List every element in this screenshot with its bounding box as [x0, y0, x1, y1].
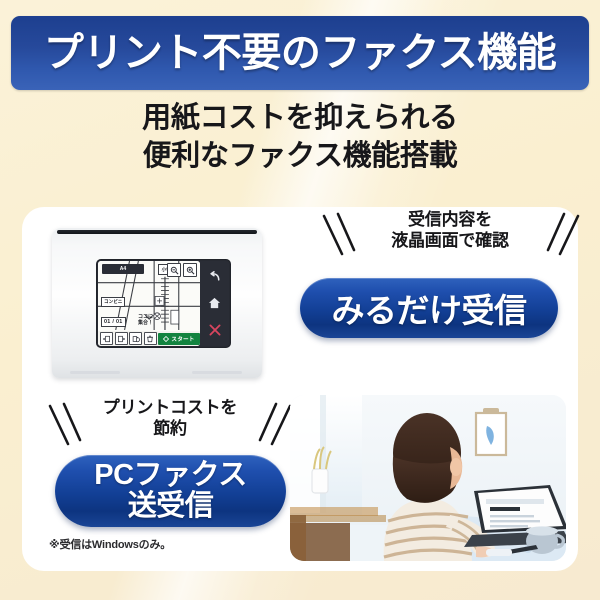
lcd-landmark-store: コンビニ [101, 297, 125, 307]
printer-device: A4 小学校 コンビニ 01 / 01 ココに 集合！ [52, 228, 262, 378]
zoom-in-icon[interactable] [183, 263, 197, 277]
pill-miru-dake-jushin[interactable]: みるだけ受信 [300, 278, 558, 338]
close-x-icon[interactable] [209, 324, 221, 336]
advertisement-banner: プリント不要のファクス機能 用紙コストを抑えられる 便利なファクス機能搭載 [0, 0, 600, 600]
back-arrow-icon[interactable] [208, 271, 221, 282]
callout-top-line-2: 液晶画面で確認 [330, 231, 570, 252]
start-button-label: スタート [171, 335, 194, 343]
printer-top-bar [57, 230, 257, 234]
lcd-zoom-controls[interactable] [167, 263, 197, 277]
rotate-icon[interactable] [129, 332, 142, 345]
subtitle-line-1: 用紙コストを抑えられる [0, 100, 600, 138]
callout-top-line-1: 受信内容を [330, 210, 570, 231]
pill-pc-fax[interactable]: PCファクス 送受信 [55, 455, 286, 527]
lcd-here-note-line2: 集合！ [138, 320, 153, 326]
start-diamond-icon [163, 336, 169, 342]
next-page-icon[interactable] [115, 332, 128, 345]
callout-bottom-line-2: 節約 [70, 419, 270, 440]
lcd-page-counter: 01 / 01 [101, 317, 126, 327]
header-banner: プリント不要のファクス機能 [11, 16, 589, 90]
lcd-panel[interactable]: A4 小学校 コンビニ 01 / 01 ココに 集合！ [96, 259, 231, 348]
printer-foot-left [70, 371, 120, 374]
subtitle-block: 用紙コストを抑えられる 便利なファクス機能搭載 [0, 100, 600, 175]
pill-miru-dake-jushin-label: みるだけ受信 [332, 284, 527, 332]
photo-woman-laptop [290, 395, 566, 561]
lcd-side-buttons[interactable] [200, 261, 229, 346]
callout-top: 受信内容を 液晶画面で確認 [330, 210, 570, 251]
start-button[interactable]: スタート [158, 333, 200, 345]
lcd-toolbar[interactable]: スタート [98, 331, 200, 346]
banner-title: プリント不要のファクス機能 [44, 33, 556, 73]
callout-bottom: プリントコストを 節約 [70, 398, 270, 439]
zoom-out-icon[interactable] [167, 263, 181, 277]
pill-pc-fax-line-2: 送受信 [94, 491, 246, 522]
slash-left-icon [320, 212, 362, 260]
slash-right-icon-2 [252, 402, 294, 450]
prev-page-icon[interactable] [100, 332, 113, 345]
slash-right-icon [540, 212, 582, 260]
lcd-screen[interactable]: A4 小学校 コンビニ 01 / 01 ココに 集合！ [98, 261, 200, 346]
photo-illustration [290, 395, 566, 561]
printer-foot-right [192, 371, 242, 374]
callout-bottom-line-1: プリントコストを [70, 398, 270, 419]
footnote: ※受信はWindowsのみ。 [49, 536, 171, 552]
trash-icon[interactable] [144, 332, 157, 345]
lcd-here-note: ココに 集合！ [138, 314, 153, 326]
home-icon[interactable] [208, 297, 221, 309]
subtitle-line-2: 便利なファクス機能搭載 [0, 138, 600, 176]
slash-left-icon-2 [46, 402, 88, 450]
lcd-paper-size-label: A4 [102, 264, 144, 274]
pill-pc-fax-line-1: PCファクス [94, 460, 246, 491]
